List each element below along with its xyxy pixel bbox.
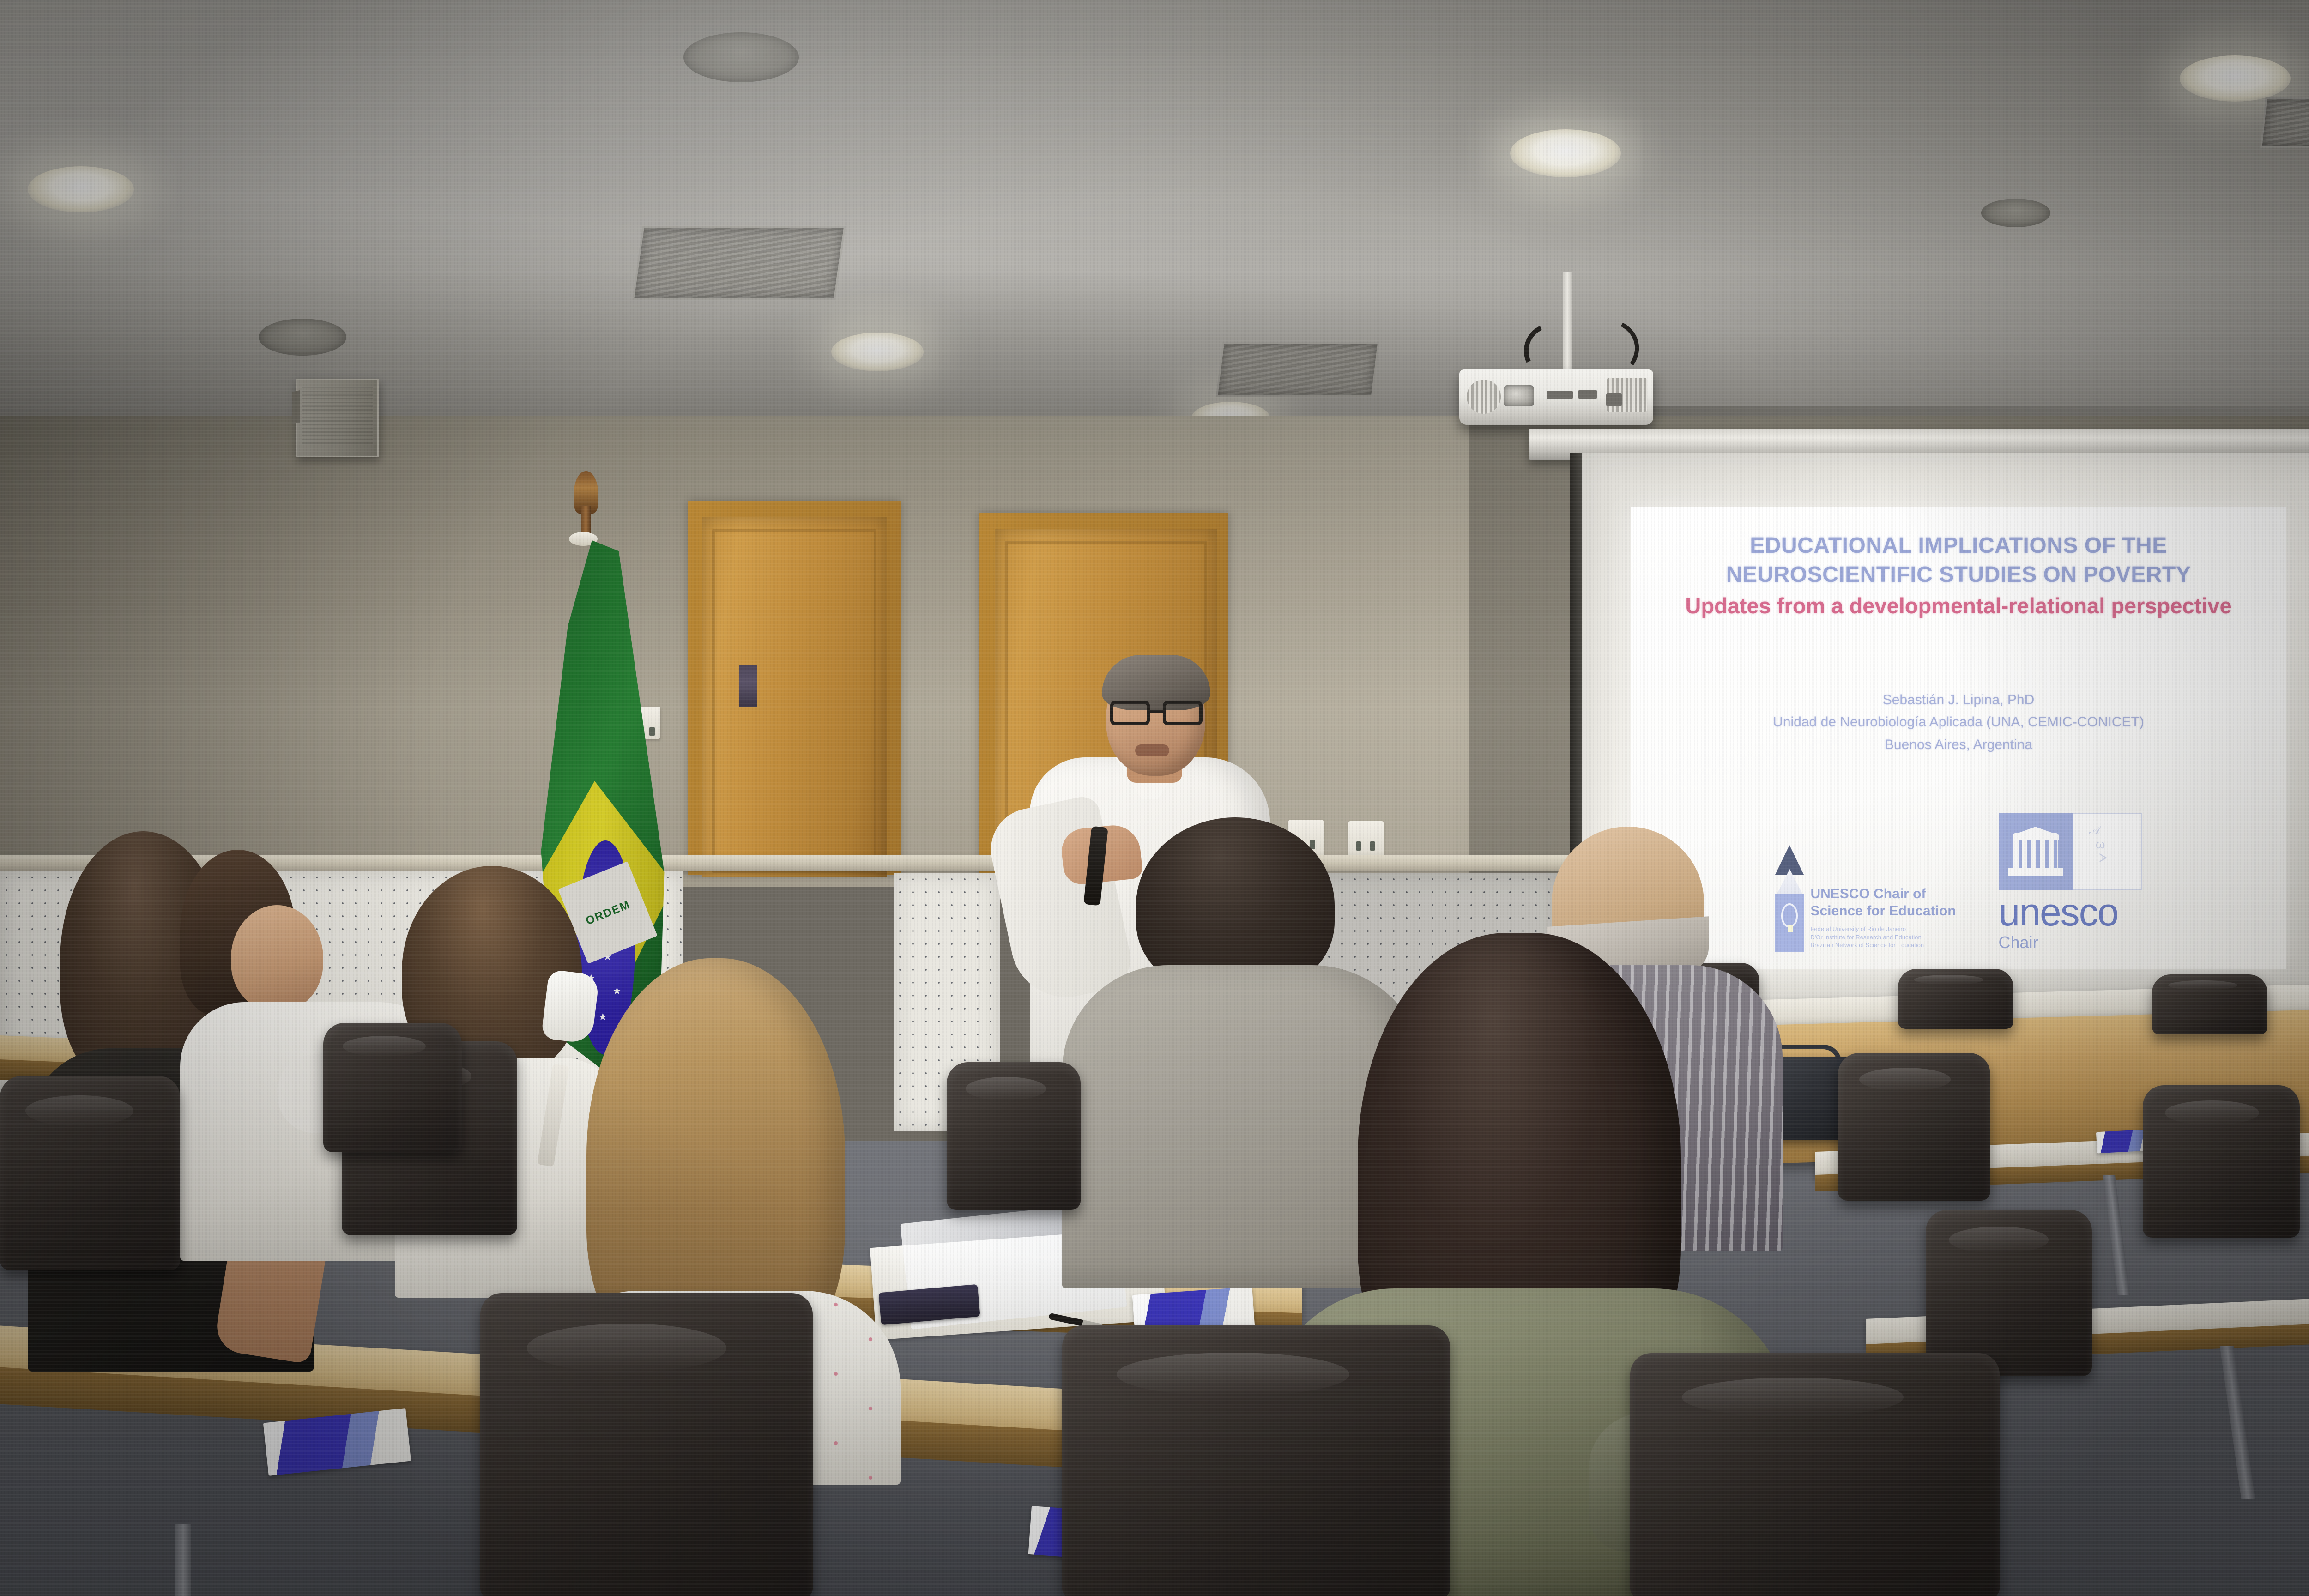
third-tier-chair-1[interactable]: [1926, 1210, 2092, 1376]
rear-chair-3[interactable]: [2152, 974, 2267, 1034]
unesco-temple-icon: [1999, 813, 2073, 890]
foreground-chair-3[interactable]: [480, 1293, 813, 1596]
attendee2-head: [231, 905, 323, 1011]
presenter-mouth: [1135, 744, 1169, 756]
wall-speaker: [296, 379, 379, 457]
slide-title-line1: EDUCATIONAL IMPLICATIONS OF THE: [1750, 531, 2167, 560]
unesco-script-panel: 𝒜 ω ᗆ: [2073, 813, 2142, 890]
door-handle-left[interactable]: [739, 665, 757, 707]
chair-logo-text: UNESCO Chair of Science for Education Fe…: [1810, 886, 1956, 952]
foreground-chair-4[interactable]: [1062, 1325, 1450, 1596]
slide-title-line2: NEUROSCIENTIFIC STUDIES ON POVERTY: [1726, 560, 2191, 589]
projector-port-hdmi: [1578, 390, 1597, 399]
foreground-desk-leg-1: [175, 1524, 191, 1596]
unesco-chair-sublabel: Chair: [1999, 933, 2142, 952]
slide-author-block: Sebastián J. Lipina, PhD Unidad de Neuro…: [1773, 689, 2144, 756]
second-tier-chair-1[interactable]: [1838, 1053, 1990, 1201]
glasses-icon: [1110, 701, 1203, 725]
speaker-bracket: [292, 390, 300, 424]
projector-vent-left: [1467, 380, 1501, 414]
projector-port-power: [1606, 393, 1622, 406]
slide-subtitle: Updates from a developmental-relational …: [1685, 592, 2231, 620]
foreground-chair-1[interactable]: [0, 1076, 180, 1270]
side-chair-right[interactable]: [947, 1062, 1081, 1210]
side-chair-left-rear[interactable]: [323, 1023, 462, 1152]
unesco-wordmark: unesco: [1999, 894, 2142, 931]
door-left[interactable]: [702, 517, 887, 877]
speaker-grille: [302, 385, 373, 444]
slide-author-name: Sebastián J. Lipina, PhD: [1773, 689, 2144, 712]
chair-logo-title: UNESCO Chair of Science for Education: [1810, 886, 1956, 919]
chair-logo-fineprint: Federal University of Rio de Janeiro D'O…: [1810, 925, 1956, 949]
rear-chair-2[interactable]: [1898, 969, 2013, 1029]
unesco-chair-logo: 𝒜 ω ᗆ unesco Chair: [1999, 813, 2142, 952]
lecture-room-photograph: EDUCATIONAL IMPLICATIONS OF THE NEUROSCI…: [0, 0, 2309, 1596]
foreground-chair-5[interactable]: [1630, 1353, 2000, 1596]
projector-port-vga: [1547, 391, 1573, 399]
second-tier-chair-2[interactable]: [2143, 1085, 2300, 1238]
slide-location: Buenos Aires, Argentina: [1773, 734, 2144, 756]
projector-lens: [1504, 385, 1534, 406]
slide-affiliation: Unidad de Neurobiología Aplicada (UNA, C…: [1773, 711, 2144, 734]
unesco-emblem: 𝒜 ω ᗆ: [1999, 813, 2142, 890]
